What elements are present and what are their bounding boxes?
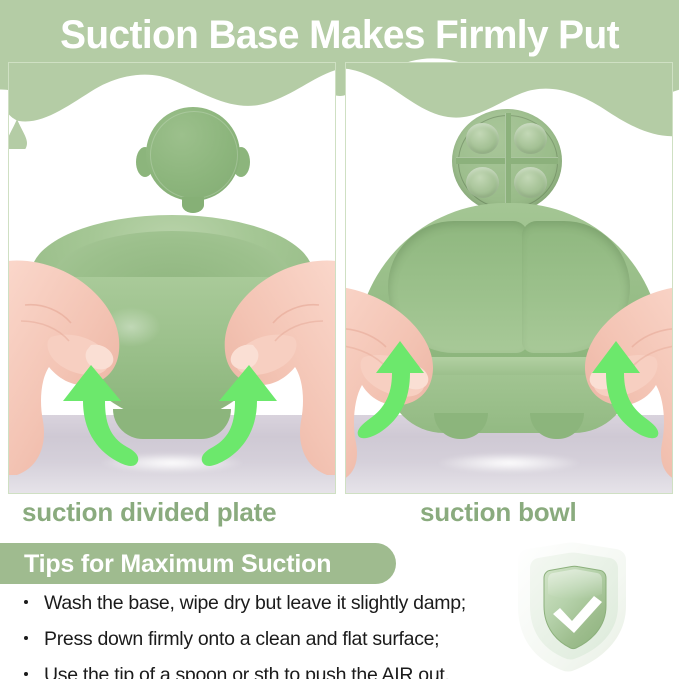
suction-cup-2 [514,123,547,154]
bullet-dot-icon [24,600,28,604]
arrow-up-left-icon [354,339,432,445]
page-title: Suction Base Makes Firmly Put [10,12,669,58]
list-item-text: Wash the base, wipe dry but leave it sli… [44,588,466,618]
bullet-dot-icon [24,672,28,676]
right-panel-photo [346,63,672,493]
bowl-base-rim-line [150,111,238,199]
shield-check-icon [498,538,638,676]
suction-cup-4 [514,167,547,198]
plate-base-divider-vertical [505,113,511,209]
suction-cup-1 [466,123,499,154]
list-item-text: Use the tip of a spoon or sth to push th… [44,660,450,679]
arrow-up-right-icon [584,339,662,445]
bowl-base-nub [182,197,204,213]
arrow-up-right-icon [197,361,283,469]
tips-list: Wash the base, wipe dry but leave it sli… [22,588,542,679]
list-item: Use the tip of a spoon or sth to push th… [22,660,542,679]
tips-heading-banner: Tips for Maximum Suction [0,543,396,584]
left-photo-panel [8,62,336,494]
left-panel-photo [9,63,335,493]
list-item: Wash the base, wipe dry but leave it sli… [22,588,542,624]
list-item: Press down firmly onto a clean and flat … [22,624,542,660]
right-photo-panel [345,62,673,494]
tips-heading-label: Tips for Maximum Suction [24,550,331,579]
caption-left-panel: suction divided plate [22,497,276,528]
infographic-page: Suction Base Makes Firmly Put [0,0,679,679]
list-item-text: Press down firmly onto a clean and flat … [44,624,439,654]
arrow-up-left-icon [57,361,143,469]
suction-cup-3 [466,167,499,198]
caption-right-panel: suction bowl [420,497,576,528]
table-sheen-right [437,453,580,473]
bullet-dot-icon [24,636,28,640]
shield-gloss [548,569,602,599]
bowl-suction-base-top-view [136,107,250,207]
